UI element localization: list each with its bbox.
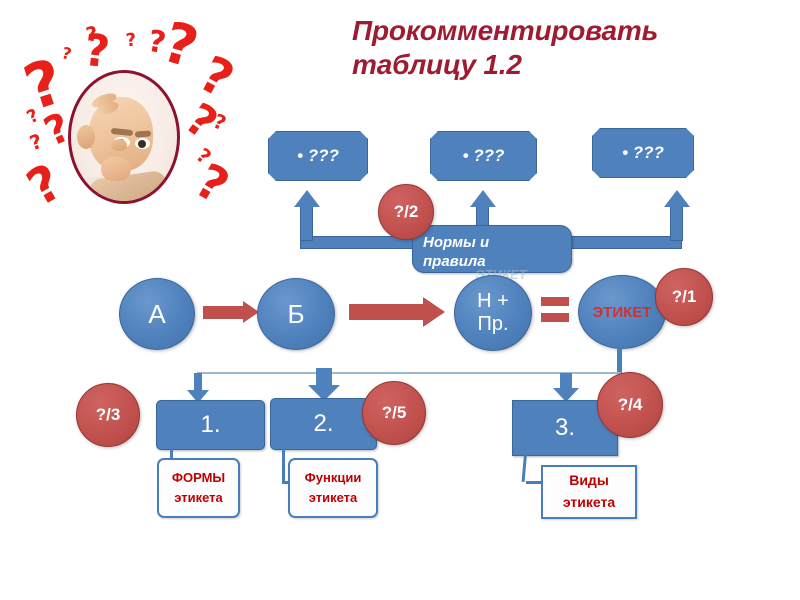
badge-question-3-label: ?/3	[96, 405, 121, 425]
connector-right-vertical	[670, 205, 683, 241]
badge-question-1-label: ?/1	[672, 287, 697, 307]
numbered-box-1[interactable]: 1.	[156, 400, 265, 450]
arrow-head-up-left	[294, 190, 320, 207]
distribution-line	[197, 372, 621, 374]
badge-question-4[interactable]: ?/4	[597, 372, 663, 438]
circle-etiquette-label: ЭТИКЕТ	[593, 304, 652, 321]
callout-kinds[interactable]: Виды этикета	[541, 465, 637, 519]
leader-line-2-vertical	[282, 448, 285, 484]
question-box-2-label: • ???	[463, 146, 505, 166]
question-mark-icon: ?	[192, 48, 241, 106]
badge-question-4-label: ?/4	[618, 395, 643, 415]
norms-box-line1: Нормы и	[423, 234, 561, 253]
question-mark-icon: ?	[19, 156, 69, 214]
etiquette-stem	[617, 344, 622, 374]
arrow-down-2-shaft	[316, 368, 332, 386]
circle-etiquette[interactable]: ЭТИКЕТ	[578, 275, 666, 349]
arrow-head-up-right	[664, 190, 690, 207]
callout-functions[interactable]: Функции этикета	[288, 458, 378, 518]
slide-canvas: Прокомментировать таблицу 1.2 ? ? ? ? ? …	[0, 0, 800, 600]
callout-forms-line2: этикета	[174, 488, 223, 508]
question-mark-icon: ?	[157, 15, 204, 78]
callout-forms-line1: ФОРМЫ	[172, 468, 225, 488]
badge-question-5-label: ?/5	[382, 403, 407, 423]
page-title-line1: Прокомментировать	[352, 14, 752, 48]
callout-kinds-line2: этикета	[563, 492, 615, 514]
badge-question-2-label: ?/2	[394, 202, 419, 222]
circle-a[interactable]: А	[119, 278, 195, 350]
callout-functions-line2: этикета	[309, 488, 358, 508]
circle-b[interactable]: Б	[257, 278, 335, 350]
red-arrow-1-shaft	[203, 306, 245, 319]
question-mark-icon: ?	[125, 32, 137, 51]
callout-functions-line1: Функции	[305, 468, 362, 488]
circle-norms-plus-rules[interactable]: Н + Пр.	[454, 275, 532, 351]
thinking-man-illustration: ? ? ? ? ? ? ? ? ? ? ? ? ? ? ? ?	[2, 8, 270, 240]
badge-question-3[interactable]: ?/3	[76, 383, 140, 447]
arrow-down-3-shaft	[560, 373, 572, 389]
question-box-1-label: • ???	[297, 146, 339, 166]
connector-left-vertical	[300, 205, 313, 241]
callout-kinds-line1: Виды	[569, 470, 609, 492]
question-mark-icon: ?	[27, 131, 44, 154]
badge-question-2[interactable]: ?/2	[378, 184, 434, 240]
page-title-line2: таблицу 1.2	[352, 48, 752, 82]
numbered-box-1-label: 1.	[200, 411, 220, 439]
page-title: Прокомментировать таблицу 1.2	[352, 14, 752, 82]
question-mark-icon: ?	[60, 45, 73, 63]
numbered-box-3-label: 3.	[555, 414, 575, 442]
equals-sign	[541, 297, 569, 323]
thinking-man-face	[68, 70, 180, 204]
badge-question-1[interactable]: ?/1	[655, 268, 713, 326]
numbered-box-2[interactable]: 2.	[270, 398, 377, 450]
leader-line-3-vertical	[522, 454, 527, 482]
circle-a-label: А	[148, 299, 165, 330]
question-box-2[interactable]: • ???	[430, 131, 537, 181]
question-box-3[interactable]: • ???	[592, 128, 694, 178]
question-box-3-label: • ???	[622, 143, 664, 163]
circle-c-line1: Н +	[477, 290, 509, 313]
red-arrow-2-head	[423, 297, 445, 327]
badge-question-5[interactable]: ?/5	[362, 381, 426, 445]
red-arrow-2-shaft	[349, 304, 425, 320]
numbered-box-2-label: 2.	[313, 410, 333, 438]
connector-right-horizontal	[570, 236, 682, 249]
arrow-head-up-center	[470, 190, 496, 207]
question-mark-icon: ?	[82, 29, 112, 75]
question-box-1[interactable]: • ???	[268, 131, 368, 181]
callout-forms[interactable]: ФОРМЫ этикета	[157, 458, 240, 518]
circle-b-label: Б	[287, 299, 304, 330]
circle-c-line2: Пр.	[477, 313, 508, 336]
norms-and-rules-box[interactable]: Нормы и правила	[412, 225, 572, 273]
